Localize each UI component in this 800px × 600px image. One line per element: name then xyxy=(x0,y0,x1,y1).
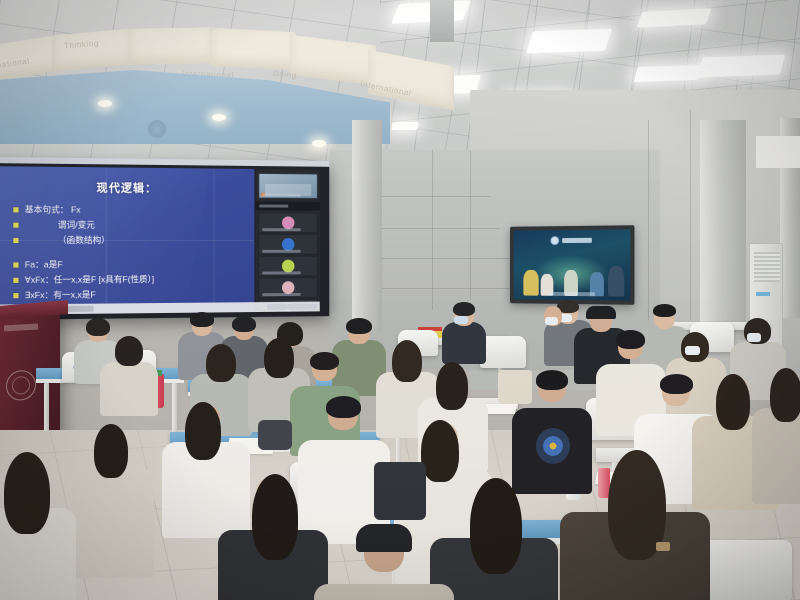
person-hair xyxy=(660,374,693,394)
person-hair xyxy=(232,316,256,332)
vc-name-label xyxy=(262,194,300,197)
slide-formula-row: Fa：a是F xyxy=(13,258,254,271)
person-hair xyxy=(470,478,522,574)
person-hair xyxy=(252,474,298,560)
projection-screen[interactable]: 现代逻辑： 基本句式： Fx 谓词/变元 （函数结构） xyxy=(0,166,320,315)
vc-main-video-tile[interactable] xyxy=(258,173,318,199)
person-hair xyxy=(115,336,143,366)
formula-text: ∀xFx：任一x,x是F [x具有F(性质）] xyxy=(25,273,154,286)
person-body xyxy=(72,468,154,578)
person-hair xyxy=(310,352,339,370)
person-hair xyxy=(421,420,459,482)
slide-bullet-list: 基本句式： Fx 谓词/变元 （函数结构） Fa：a是F xyxy=(0,203,254,301)
person-hair xyxy=(653,304,676,317)
lectern-nameplate xyxy=(4,324,38,332)
face-mask xyxy=(747,333,761,342)
vc-participant-tile[interactable] xyxy=(258,277,318,298)
wall-seam xyxy=(370,288,520,289)
person-hair xyxy=(264,338,294,378)
ac-vent-grille xyxy=(754,252,780,282)
slide-formula-row: ∀xFx：任一x,x是F [x具有F(性质）] xyxy=(13,273,254,286)
slide-title: 现代逻辑： xyxy=(0,179,254,197)
jacket-on-chair xyxy=(498,370,532,404)
person-body xyxy=(100,362,158,416)
university-seal-emblem xyxy=(6,370,36,402)
slide-formula-row: ∃xFx：有一x,x是F xyxy=(13,287,254,301)
person-hair xyxy=(206,344,236,382)
person-hair xyxy=(436,362,468,410)
led-display[interactable] xyxy=(514,229,631,300)
person-hair xyxy=(392,340,422,382)
led-figure xyxy=(608,266,624,297)
person-hair xyxy=(94,424,128,478)
person-hair xyxy=(86,318,110,336)
person-hair xyxy=(716,374,750,430)
lecture-slide: 现代逻辑： 基本句式： Fx 谓词/变元 （函数结构） xyxy=(0,172,254,310)
formula-text: Fa：a是F xyxy=(25,258,63,270)
person-cap xyxy=(356,524,412,552)
video-conference-panel[interactable] xyxy=(254,169,319,312)
bullet-text: 谓词/变元 xyxy=(25,219,95,231)
led-university-logo xyxy=(550,236,591,245)
vc-name-label xyxy=(262,250,300,253)
ac-display-panel xyxy=(756,292,770,296)
backpack xyxy=(258,420,292,450)
vc-name-label xyxy=(262,228,300,231)
bullet-square-icon xyxy=(13,277,18,282)
slide-bullet: 基本句式： Fx xyxy=(13,203,254,216)
desk-leg xyxy=(44,383,49,431)
led-display-frame xyxy=(510,225,634,305)
tshirt-floral-print xyxy=(536,428,570,464)
vc-participant-tile[interactable] xyxy=(258,212,318,233)
soffit-segment xyxy=(0,34,60,81)
vc-participant-tile[interactable] xyxy=(258,234,318,255)
person-hair xyxy=(185,402,221,460)
face-mask xyxy=(685,346,700,355)
vc-toolbar[interactable] xyxy=(255,202,319,211)
bullet-square-icon xyxy=(13,222,18,227)
wall-seam xyxy=(370,196,490,197)
soffit-segment xyxy=(210,28,296,71)
person-hair xyxy=(346,318,372,334)
face-mask xyxy=(545,317,558,325)
lecture-hall-photo: Thinking International International Doi… xyxy=(0,0,800,600)
downlight xyxy=(312,140,326,147)
person-body xyxy=(752,408,800,504)
person-hair xyxy=(4,452,50,534)
bullet-square-icon xyxy=(13,237,18,242)
chair xyxy=(480,336,526,368)
bullet-square-icon xyxy=(13,262,18,267)
person-hair xyxy=(190,312,214,327)
person-cap xyxy=(586,306,616,319)
wall-seam xyxy=(470,150,471,300)
bullet-text: 基本句式： Fx xyxy=(25,203,81,215)
vc-participant-tile[interactable] xyxy=(258,256,318,277)
person-hair xyxy=(326,396,361,418)
person-hair xyxy=(453,302,475,316)
face-mask xyxy=(454,316,468,324)
wall-seam xyxy=(370,258,510,259)
slide-bullet: （函数结构） xyxy=(13,234,254,246)
wall-seam xyxy=(690,110,691,320)
soffit-segment xyxy=(128,27,214,65)
bullet-square-icon xyxy=(13,207,18,212)
logo-circle-icon xyxy=(550,236,559,245)
desk-leg xyxy=(172,383,177,433)
soffit-segment xyxy=(290,35,376,86)
wall-column xyxy=(352,120,382,330)
downlight xyxy=(212,114,226,121)
led-figure xyxy=(523,270,538,296)
person-body xyxy=(314,584,454,600)
wall-column xyxy=(700,120,746,340)
slide-bullet: 谓词/变元 xyxy=(13,219,254,232)
taskbar-tray[interactable] xyxy=(267,304,317,310)
projection-screen-frame: 现代逻辑： 基本句式： Fx 谓词/变元 （函数结构） xyxy=(0,161,329,320)
wall-seam xyxy=(370,228,500,229)
ceiling-speaker xyxy=(148,120,166,138)
person-hair xyxy=(770,368,800,422)
chair xyxy=(700,540,792,600)
person-hair xyxy=(616,330,645,349)
led-caption-text xyxy=(547,292,594,296)
bullet-text: （函数结构） xyxy=(25,234,110,246)
whiteboard-edge xyxy=(756,136,800,168)
downlight xyxy=(98,100,112,107)
vc-name-label xyxy=(262,271,300,274)
soffit-word: Doing xyxy=(273,69,298,80)
ceiling-light xyxy=(697,55,786,78)
person-hair xyxy=(536,370,568,390)
ceiling-light xyxy=(526,29,612,54)
bullet-square-icon xyxy=(13,293,18,298)
jacket-logo-tag xyxy=(656,542,670,551)
wall-seam xyxy=(648,120,649,320)
backpack xyxy=(374,462,426,520)
formula-text: ∃xFx：有一x,x是F xyxy=(25,288,96,301)
wall-seam xyxy=(432,150,433,310)
vc-name-label xyxy=(262,293,300,296)
ceiling-light xyxy=(633,65,702,82)
person-body xyxy=(442,322,486,364)
logo-wordmark xyxy=(562,238,592,243)
blue-ceiling-underside xyxy=(0,70,390,144)
